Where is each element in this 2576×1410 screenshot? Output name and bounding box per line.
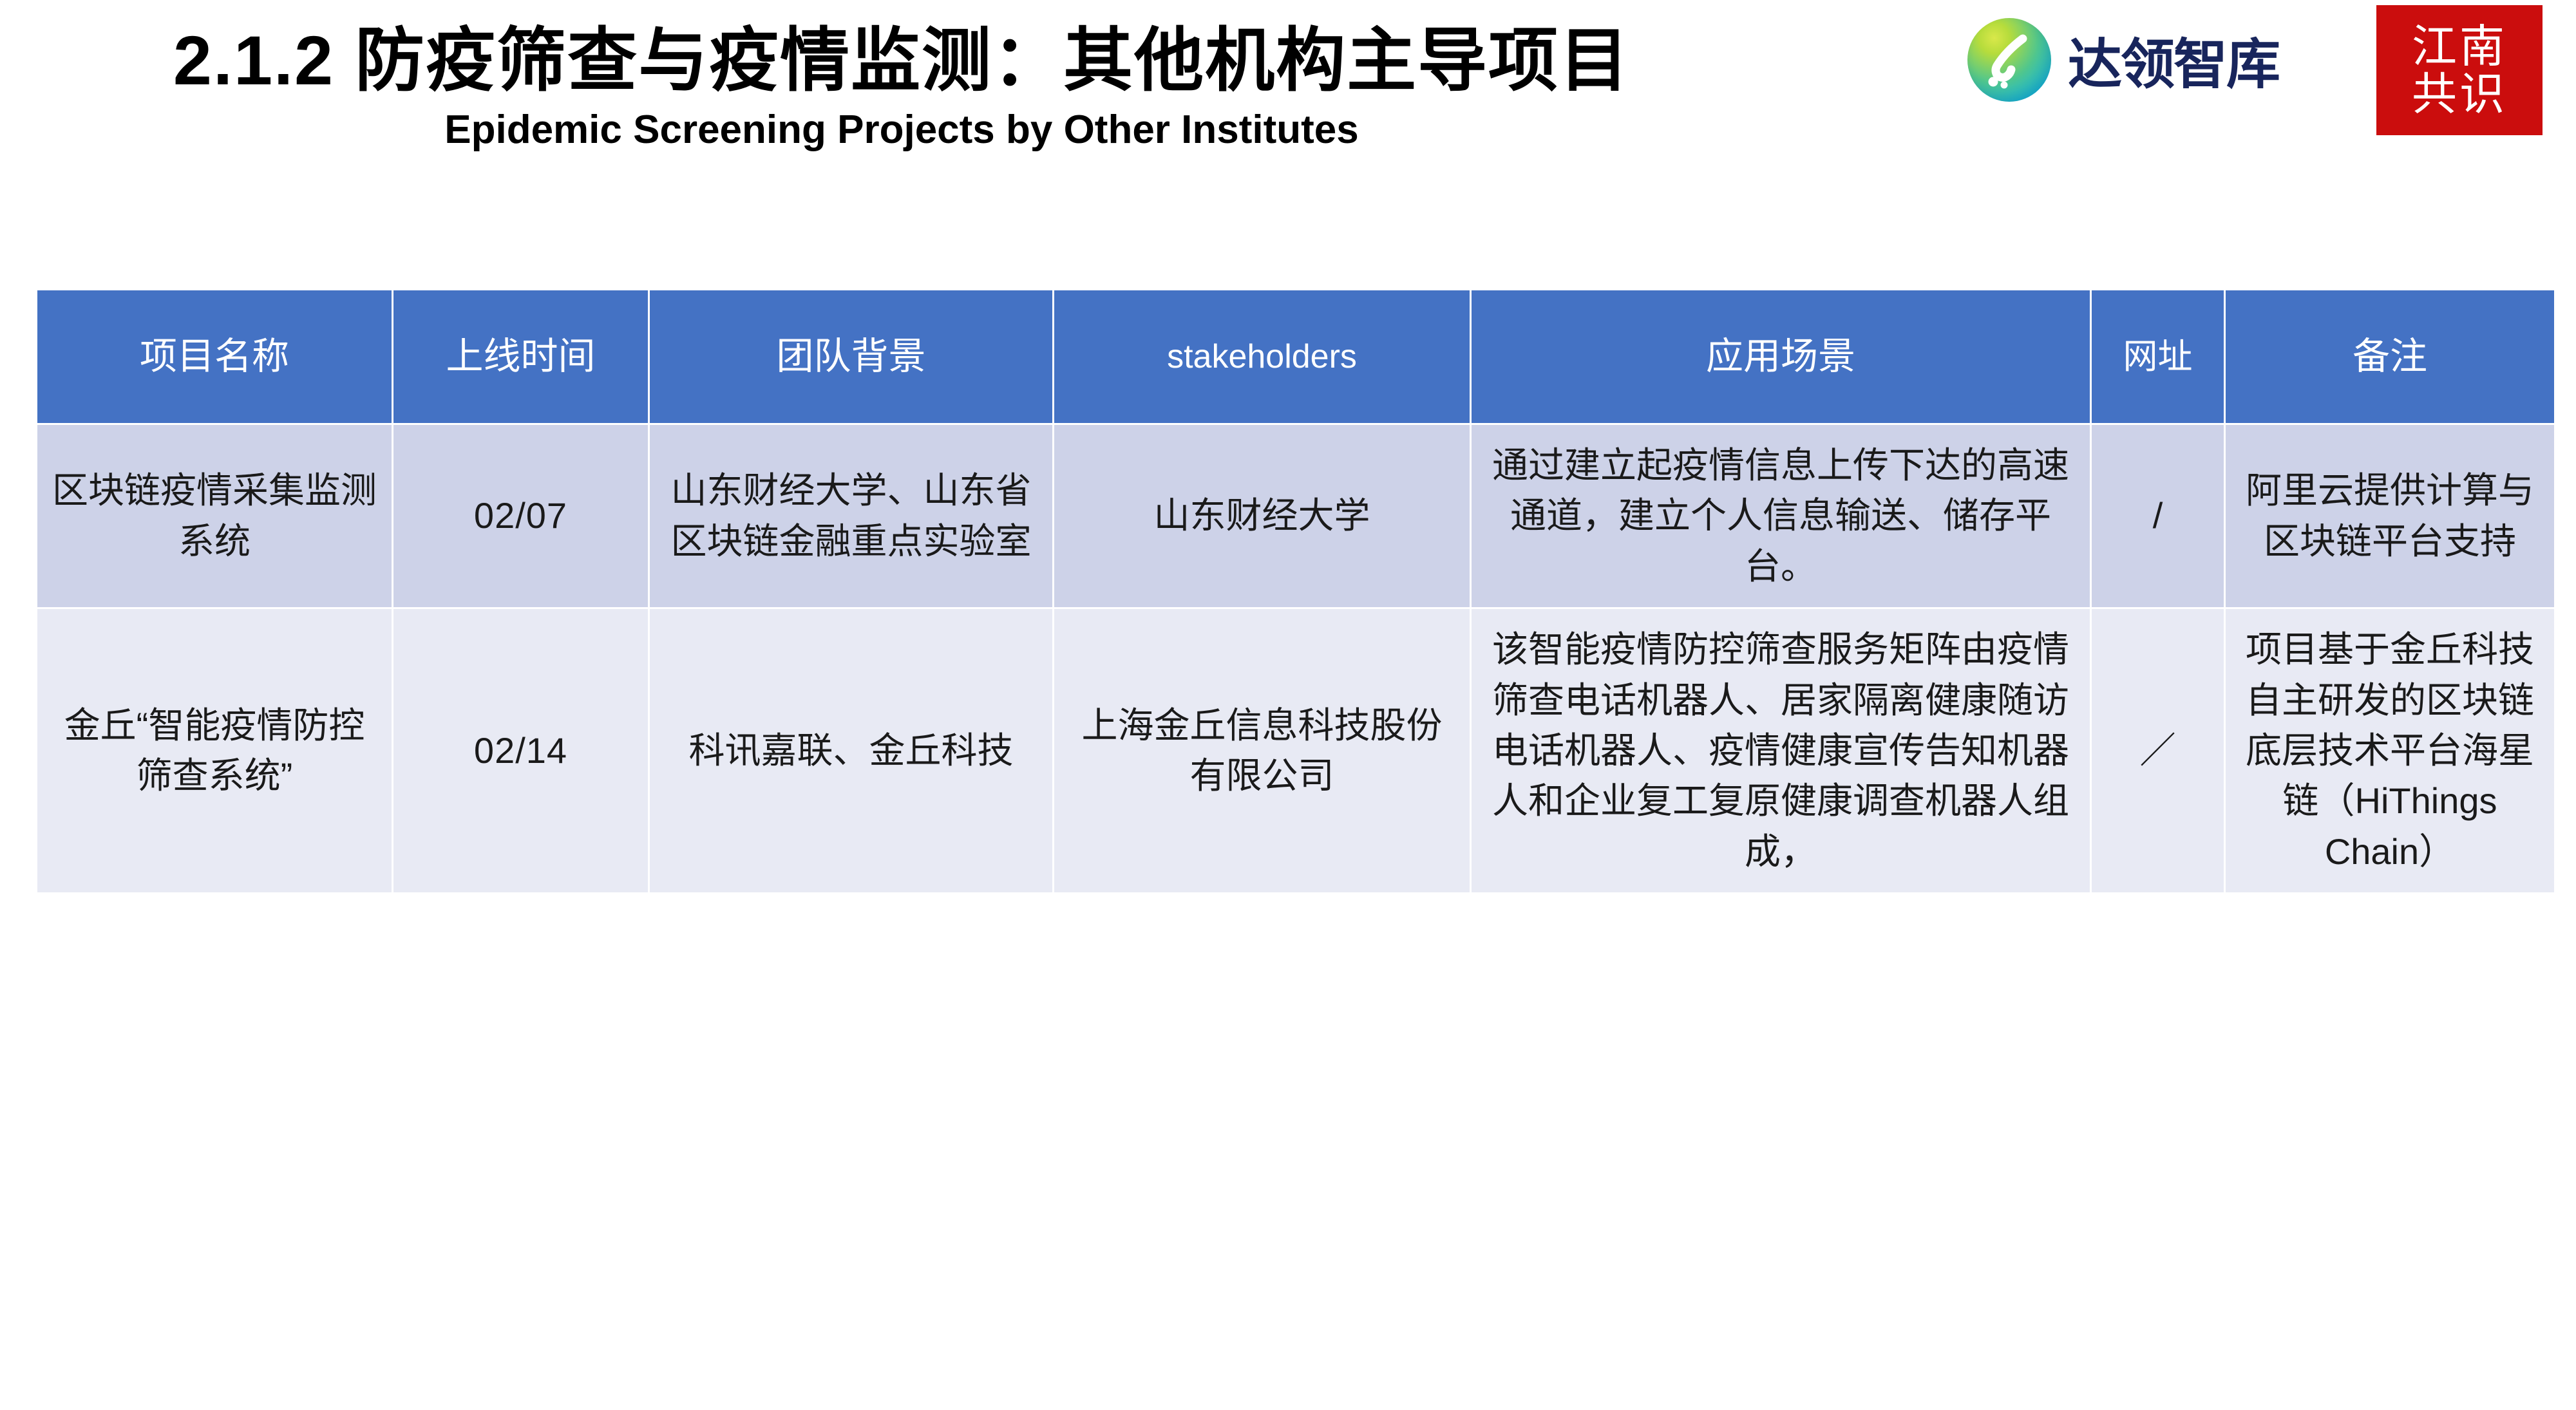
column-header-team-background: 团队背景: [650, 290, 1052, 423]
projects-table: 项目名称 上线时间 团队背景 stakeholders 应用场景 网址 备注 区…: [35, 288, 2556, 894]
column-header-project-name: 项目名称: [37, 290, 392, 423]
cell-team-background: 科讯嘉联、金丘科技: [650, 609, 1052, 892]
table-row: 金丘“智能疫情防控筛查系统” 02/14 科讯嘉联、金丘科技 上海金丘信息科技股…: [37, 609, 2554, 892]
jiangnan-consensus-seal: 江南 共识: [2376, 5, 2543, 135]
slide-header: 2.1.2 防疫筛查与疫情监测：其他机构主导项目 Epidemic Screen…: [0, 0, 2576, 245]
cell-project-name: 金丘“智能疫情防控筛查系统”: [37, 609, 392, 892]
page-title-english: Epidemic Screening Projects by Other Ins…: [0, 105, 1803, 155]
seal-line-1: 江南: [2412, 23, 2507, 70]
cell-url: ／: [2092, 609, 2224, 892]
column-header-notes: 备注: [2226, 290, 2554, 423]
cell-url: /: [2092, 425, 2224, 607]
cell-notes: 阿里云提供计算与区块链平台支持: [2226, 425, 2554, 607]
column-header-application-scenario: 应用场景: [1472, 290, 2090, 423]
cell-project-name: 区块链疫情采集监测系统: [37, 425, 392, 607]
cell-application-scenario: 该智能疫情防控筛查服务矩阵由疫情筛查电话机器人、居家隔离健康随访电话机器人、疫情…: [1472, 609, 2090, 892]
column-header-url: 网址: [2092, 290, 2224, 423]
cell-stakeholders: 上海金丘信息科技股份有限公司: [1054, 609, 1470, 892]
brand-name: 达领智库: [2068, 21, 2279, 99]
title-block: 2.1.2 防疫筛查与疫情监测：其他机构主导项目 Epidemic Screen…: [0, 19, 1803, 155]
brand-logo: 达领智库: [1967, 18, 2279, 102]
page-title-chinese: 2.1.2 防疫筛查与疫情监测：其他机构主导项目: [0, 19, 1803, 101]
column-header-stakeholders: stakeholders: [1054, 290, 1470, 423]
cell-application-scenario: 通过建立起疫情信息上传下达的高速通道，建立个人信息输送、储存平台。: [1472, 425, 2090, 607]
column-header-launch-date: 上线时间: [393, 290, 648, 423]
cell-team-background: 山东财经大学、山东省区块链金融重点实验室: [650, 425, 1052, 607]
table-row: 区块链疫情采集监测系统 02/07 山东财经大学、山东省区块链金融重点实验室 山…: [37, 425, 2554, 607]
cell-notes: 项目基于金丘科技自主研发的区块链底层技术平台海星链（HiThings Chain…: [2226, 609, 2554, 892]
cell-stakeholders: 山东财经大学: [1054, 425, 1470, 607]
table-header-row: 项目名称 上线时间 团队背景 stakeholders 应用场景 网址 备注: [37, 290, 2554, 423]
cell-launch-date: 02/14: [393, 609, 648, 892]
cell-launch-date: 02/07: [393, 425, 648, 607]
dalling-swoosh-logo-icon: [1967, 18, 2051, 102]
seal-line-2: 共识: [2412, 70, 2507, 118]
